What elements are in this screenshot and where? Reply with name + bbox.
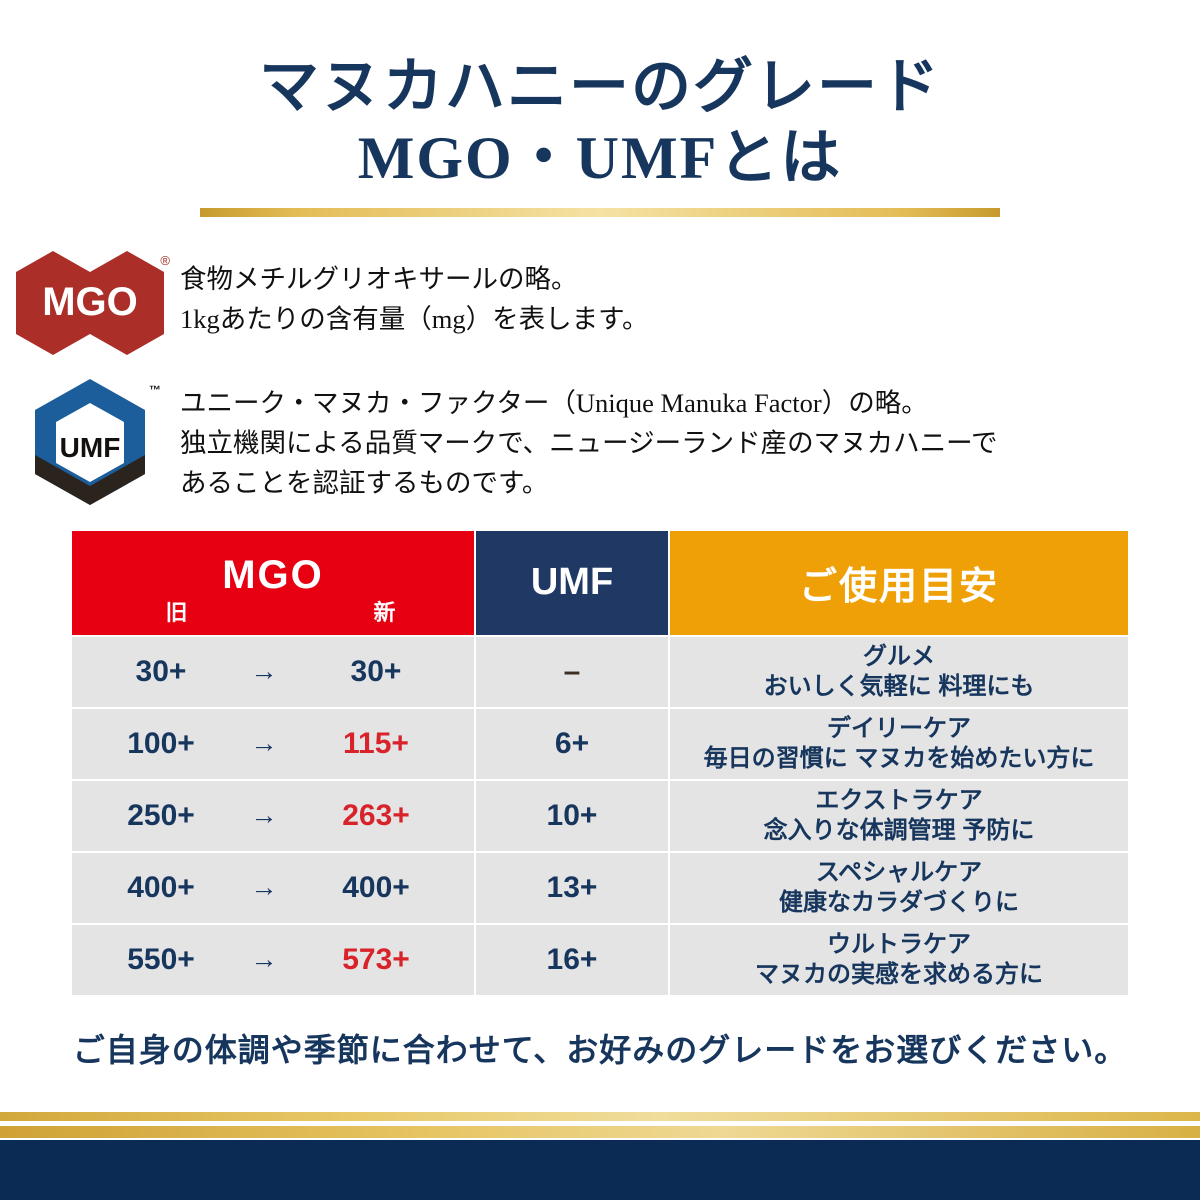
mgo-logo: MGO ®: [16, 251, 164, 355]
cell-mgo: 250+→263+: [71, 780, 475, 852]
page-title-line-2: MGO・UMFとは: [0, 123, 1200, 194]
usage-description: 念入りな体調管理 予防に: [670, 816, 1128, 846]
column-header-mgo-label: MGO: [72, 553, 474, 598]
mgo-logo-container: MGO ®: [0, 251, 180, 355]
usage-title: ウルトラケア: [670, 930, 1128, 960]
arrow-icon: →: [227, 872, 301, 903]
arrow-icon: →: [227, 656, 301, 687]
cell-umf: 10+: [475, 780, 669, 852]
umf-definition-line-3: あることを認証するものです。: [180, 463, 998, 503]
mgo-logo-text: MGO: [42, 280, 138, 324]
table-header-row: MGO 旧 新 UMF ご使用目安: [71, 530, 1129, 636]
cell-mgo: 100+→115+: [71, 708, 475, 780]
mgo-definition-text: 食物メチルグリオキサールの略。 1kgあたりの含有量（mg）を表します。: [180, 251, 648, 340]
mgo-new-value: 115+: [301, 727, 451, 761]
trademark-icon: ™: [149, 383, 161, 397]
page-title-block: マヌカハニーのグレード MGO・UMFとは: [0, 0, 1200, 217]
mgo-hexagons-icon: MGO: [16, 251, 164, 355]
gold-divider-bar-top: [0, 1112, 1200, 1121]
table-row: 100+→115+6+デイリーケア毎日の習慣に マヌカを始めたい方に: [71, 708, 1129, 780]
mgo-old-value: 400+: [95, 871, 227, 905]
usage-title: スペシャルケア: [670, 858, 1128, 888]
usage-description: 毎日の習慣に マヌカを始めたい方に: [670, 744, 1128, 774]
cell-usage: エクストラケア念入りな体調管理 予防に: [669, 780, 1129, 852]
mgo-definition-line-2: 1kgあたりの含有量（mg）を表します。: [180, 299, 648, 339]
umf-hexagon-icon: UMF: [31, 377, 149, 507]
umf-logo-container: UMF ™: [0, 377, 180, 507]
cell-usage: デイリーケア毎日の習慣に マヌカを始めたい方に: [669, 708, 1129, 780]
cell-usage: スペシャルケア健康なカラダづくりに: [669, 852, 1129, 924]
mgo-old-value: 30+: [95, 655, 227, 689]
cell-umf: 6+: [475, 708, 669, 780]
mgo-old-value: 100+: [95, 727, 227, 761]
column-header-mgo-old: 旧: [72, 595, 273, 627]
mgo-new-value: 263+: [301, 799, 451, 833]
cell-mgo: 30+→30+: [71, 636, 475, 708]
arrow-icon: →: [227, 944, 301, 975]
column-header-usage: ご使用目安: [669, 530, 1129, 636]
mgo-new-value: 30+: [301, 655, 451, 689]
usage-title: グルメ: [670, 642, 1128, 672]
registered-trademark-icon: ®: [160, 253, 170, 268]
table-row: 400+→400+13+スペシャルケア健康なカラダづくりに: [71, 852, 1129, 924]
arrow-icon: →: [227, 800, 301, 831]
grade-comparison-table: MGO 旧 新 UMF ご使用目安 30+→30+–グルメおいしく気軽に 料理に…: [70, 529, 1130, 997]
cell-umf: –: [475, 636, 669, 708]
footer-note: ご自身の体調や季節に合わせて、お好みのグレードをお選びください。: [0, 1025, 1200, 1071]
umf-logo-text: UMF: [60, 432, 121, 463]
cell-mgo: 550+→573+: [71, 924, 475, 996]
usage-description: おいしく気軽に 料理にも: [670, 672, 1128, 702]
mgo-old-value: 250+: [95, 799, 227, 833]
cell-mgo: 400+→400+: [71, 852, 475, 924]
cell-umf: 16+: [475, 924, 669, 996]
umf-definition-line-1: ユニーク・マヌカ・ファクター（Unique Manuka Factor）の略。: [180, 383, 998, 423]
definitions-section: MGO ® 食物メチルグリオキサールの略。 1kgあたりの含有量（mg）を表しま…: [0, 251, 1200, 507]
usage-description: 健康なカラダづくりに: [670, 888, 1128, 918]
table-row: 550+→573+16+ウルトラケアマヌカの実感を求める方に: [71, 924, 1129, 996]
usage-title: デイリーケア: [670, 714, 1128, 744]
title-underline-rule: [200, 208, 1000, 217]
umf-definition-line-2: 独立機関による品質マークで、ニュージーランド産のマヌカハニーで: [180, 423, 998, 463]
cell-umf: 13+: [475, 852, 669, 924]
mgo-new-value: 400+: [301, 871, 451, 905]
usage-title: エクストラケア: [670, 786, 1128, 816]
footer-navy-block: [0, 1140, 1200, 1200]
definition-row-mgo: MGO ® 食物メチルグリオキサールの略。 1kgあたりの含有量（mg）を表しま…: [0, 251, 1200, 355]
table-row: 250+→263+10+エクストラケア念入りな体調管理 予防に: [71, 780, 1129, 852]
table-body: 30+→30+–グルメおいしく気軽に 料理にも100+→115+6+デイリーケア…: [71, 636, 1129, 996]
table-header: MGO 旧 新 UMF ご使用目安: [71, 530, 1129, 636]
gold-divider-bar-bottom: [0, 1126, 1200, 1138]
mgo-definition-line-1: 食物メチルグリオキサールの略。: [180, 259, 648, 299]
definition-row-umf: UMF ™ ユニーク・マヌカ・ファクター（Unique Manuka Facto…: [0, 377, 1200, 507]
mgo-new-value: 573+: [301, 943, 451, 977]
umf-definition-text: ユニーク・マヌカ・ファクター（Unique Manuka Factor）の略。 …: [180, 377, 998, 504]
column-header-mgo-sublabels: 旧 新: [72, 595, 474, 627]
usage-description: マヌカの実感を求める方に: [670, 960, 1128, 990]
table-row: 30+→30+–グルメおいしく気軽に 料理にも: [71, 636, 1129, 708]
cell-usage: グルメおいしく気軽に 料理にも: [669, 636, 1129, 708]
umf-logo: UMF ™: [31, 377, 149, 507]
page-title-line-1: マヌカハニーのグレード: [0, 52, 1200, 123]
column-header-umf: UMF: [475, 530, 669, 636]
column-header-mgo: MGO 旧 新: [71, 530, 475, 636]
arrow-icon: →: [227, 728, 301, 759]
mgo-old-value: 550+: [95, 943, 227, 977]
column-header-mgo-new: 新: [273, 595, 474, 627]
cell-usage: ウルトラケアマヌカの実感を求める方に: [669, 924, 1129, 996]
